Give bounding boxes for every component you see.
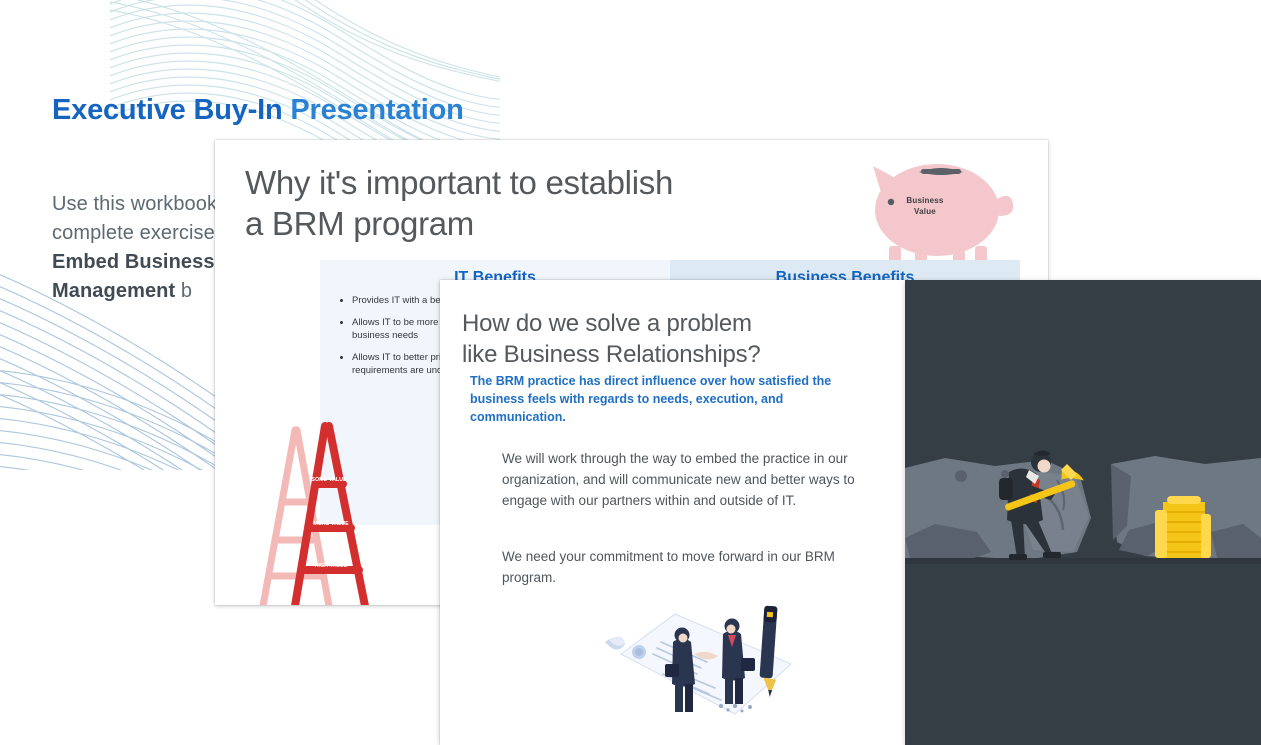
slide3-title-line1: How do we solve a problem xyxy=(462,310,752,337)
slide1-title: Executive Buy-In Presentation xyxy=(52,94,464,127)
slide1-body-tail: b xyxy=(181,280,192,302)
gold-coins-icon xyxy=(1155,496,1211,558)
slide3-paragraph-1: We will work through the way to embed th… xyxy=(502,448,872,511)
slide3-paragraph-2: We need your commitment to move forward … xyxy=(502,546,872,588)
slide3-subheading: The BRM practice has direct influence ov… xyxy=(470,372,875,426)
slide3-title: How do we solve a problem like Business … xyxy=(462,308,882,370)
slide3-title-line2: like Business Relationships? xyxy=(462,341,761,368)
slide1-body-line1: Use this workbook to xyxy=(52,193,240,215)
businessman-mining-gold-illustration xyxy=(905,280,1261,745)
slide2-title-line1: Why it's important to establish xyxy=(245,164,673,201)
piggy-label-line2: Value xyxy=(914,207,936,216)
slide-mining-for-value[interactable] xyxy=(905,280,1261,745)
slide1-body-strong2: Management xyxy=(52,280,181,302)
ladder-step-label-1: SOME VALUE xyxy=(311,477,347,483)
handshake-contract-icon xyxy=(595,590,810,730)
slide2-title-line2: a BRM program xyxy=(245,205,474,242)
piggy-label-line1: Business xyxy=(906,196,943,205)
slide-how-do-we-solve[interactable]: How do we solve a problem like Business … xyxy=(440,280,905,745)
slide1-body-strong1: Embed Business xyxy=(52,251,215,273)
slide-stack-canvas: Executive Buy-In Presentation Use this w… xyxy=(0,0,1261,745)
slide1-title-part1: Executive Buy-In xyxy=(52,94,290,126)
step-ladder-icon: SOME VALUE MORE VALUE HIGH VALUE xyxy=(233,410,408,605)
ladder-step-label-3: HIGH VALUE xyxy=(315,563,348,569)
slide1-title-part2: Presentation xyxy=(290,94,463,126)
slide2-title: Why it's important to establish a BRM pr… xyxy=(245,162,673,244)
ladder-step-label-2: MORE VALUE xyxy=(313,521,349,527)
piggy-bank-label: Business Value xyxy=(890,195,960,217)
